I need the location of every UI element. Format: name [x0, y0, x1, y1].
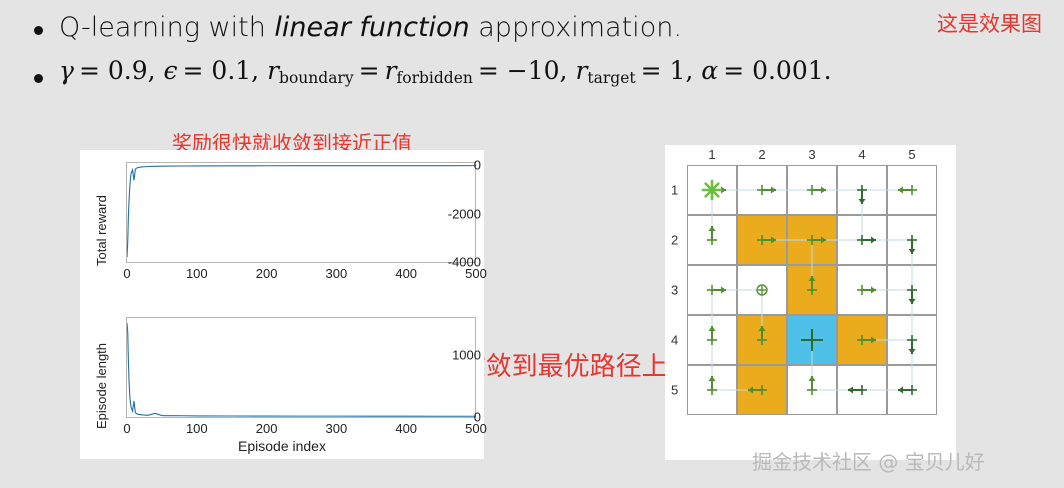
r-target-subscript: target	[587, 69, 635, 87]
bullet-dot-icon	[34, 74, 43, 83]
xtick-label: 0	[123, 266, 130, 281]
r-forbidden-base: r	[385, 56, 397, 85]
grid-cell-r2-c1[interactable]	[687, 215, 737, 265]
charts-panel: Total reward 0-2000-4000 010020030040050…	[80, 150, 484, 459]
xtick-label: 0	[123, 421, 130, 436]
xtick-label: 200	[256, 266, 278, 281]
equals-minus-ten: = −10,	[478, 56, 568, 85]
grid-cell-r2-c5[interactable]	[887, 215, 937, 265]
grid-cell-r4-c2[interactable]	[737, 315, 787, 365]
ytick-label: 0	[440, 158, 484, 173]
chart-episode-length: Episode length 10000 0100200300400500 Ep…	[80, 305, 484, 459]
grid-row-header: 3	[671, 283, 678, 298]
grid-cell-r4-c4[interactable]	[837, 315, 887, 365]
xtick-label: 500	[465, 266, 487, 281]
xtick-label: 200	[256, 421, 278, 436]
r-forbidden-subscript: forbidden	[397, 69, 473, 87]
grid-cell-r3-c1[interactable]	[687, 265, 737, 315]
chart-total-reward-curve	[127, 163, 476, 262]
grid-col-header: 1	[708, 147, 715, 162]
grid-cell-r3-c5[interactable]	[887, 265, 937, 315]
bullet-item-qlearning: Q-learning with linear function approxim…	[34, 12, 1044, 43]
grid-cell-r5-c3[interactable]	[787, 365, 837, 415]
grid-cell-r3-c4[interactable]	[837, 265, 887, 315]
xtick-label: 300	[326, 266, 348, 281]
bullet-list: Q-learning with linear function approxim…	[34, 4, 1044, 87]
grid-row-header: 2	[671, 233, 678, 248]
grid-cell-r5-c2[interactable]	[737, 365, 787, 415]
equals-1: =	[359, 56, 380, 85]
grid-col-header: 3	[808, 147, 815, 162]
grid-row-header: 5	[671, 383, 678, 398]
epsilon-value: = 0.1,	[183, 56, 260, 85]
r-boundary-base: r	[267, 56, 279, 85]
r-target-base: r	[575, 56, 587, 85]
grid-cell-r3-c3[interactable]	[787, 265, 837, 315]
bullet-text-part-after: approximation.	[470, 12, 682, 43]
xtick-label: 400	[395, 421, 417, 436]
grid-cell-r1-c3[interactable]	[787, 165, 837, 215]
chart-total-reward-ylabel: Total reward	[94, 195, 109, 266]
grid-cell-r2-c2[interactable]	[737, 215, 787, 265]
ytick-label: -2000	[440, 206, 484, 221]
grid-cell-r1-c2[interactable]	[737, 165, 787, 215]
watermark: 掘金技术社区 @ 宝贝儿好	[752, 446, 985, 475]
grid-cell-r2-c3[interactable]	[787, 215, 837, 265]
grid-cell-r5-c1[interactable]	[687, 365, 737, 415]
bullet-item-hyperparameters: γ = 0.9, ϵ = 0.1, rboundary = rforbidden…	[34, 57, 1044, 87]
gamma-symbol: γ	[59, 56, 74, 85]
grid-cell-r4-c3[interactable]	[787, 315, 837, 365]
xtick-label: 400	[395, 266, 417, 281]
bullet-dot-icon	[34, 26, 43, 35]
grid-col-header: 5	[908, 147, 915, 162]
chart-episode-length-curve	[127, 318, 476, 417]
grid-cell-r1-c1[interactable]	[687, 165, 737, 215]
xtick-label: 100	[186, 421, 208, 436]
hyperparameter-formula: γ = 0.9, ϵ = 0.1, rboundary = rforbidden…	[59, 57, 832, 87]
ytick-label: 1000	[440, 348, 484, 363]
grid-col-header: 2	[758, 147, 765, 162]
grid-cell-r5-c5[interactable]	[887, 365, 937, 415]
chart-total-reward: Total reward 0-2000-4000 010020030040050…	[80, 150, 484, 305]
grid-cell-r4-c5[interactable]	[887, 315, 937, 365]
grid-cell-r5-c4[interactable]	[837, 365, 887, 415]
grid-cell-r3-c2[interactable]	[737, 265, 787, 315]
grid-world: 12345 12345	[687, 165, 937, 415]
alpha-symbol: α	[701, 56, 718, 85]
xtick-label: 500	[465, 421, 487, 436]
annotation-effect-note: 这是效果图	[937, 8, 1042, 38]
bullet-text-part-before: Q-learning with	[59, 12, 274, 43]
grid-cell-r2-c4[interactable]	[837, 215, 887, 265]
xtick-label: 300	[326, 421, 348, 436]
grid-cell-r1-c4[interactable]	[837, 165, 887, 215]
alpha-value: = 0.001.	[723, 56, 831, 85]
gamma-value: = 0.9,	[79, 56, 156, 85]
grid-cell-r4-c1[interactable]	[687, 315, 737, 365]
xtick-label: 100	[186, 266, 208, 281]
grid-row-header: 1	[671, 183, 678, 198]
epsilon-symbol: ϵ	[164, 56, 178, 85]
grid-cell-r1-c5[interactable]	[887, 165, 937, 215]
grid-row-header: 4	[671, 333, 678, 348]
grid-col-header: 4	[858, 147, 865, 162]
bullet-text-qlearning: Q-learning with linear function approxim…	[59, 12, 682, 43]
equals-one: = 1,	[641, 56, 694, 85]
chart-episode-length-xlabel: Episode index	[80, 438, 484, 454]
grid-world-panel: 12345 12345	[665, 145, 956, 460]
chart-episode-length-ylabel: Episode length	[94, 343, 109, 429]
r-boundary-subscript: boundary	[279, 69, 354, 87]
bullet-text-part-italic: linear function	[274, 12, 469, 43]
